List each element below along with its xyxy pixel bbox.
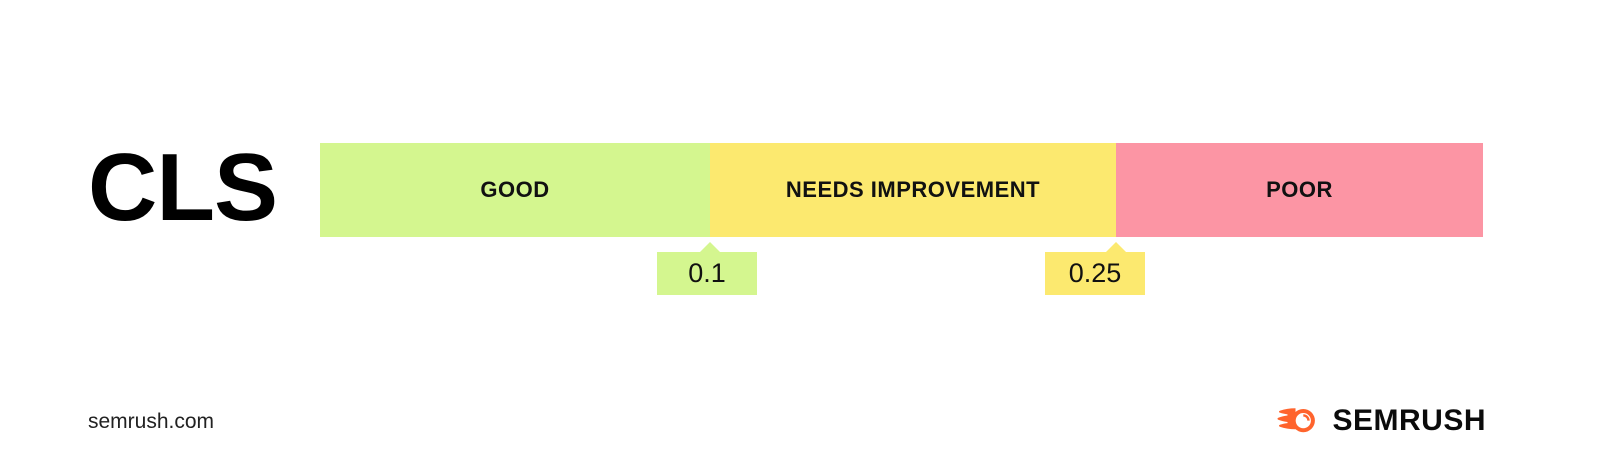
- segment-good-label: GOOD: [480, 177, 549, 203]
- site-url: semrush.com: [88, 410, 214, 434]
- threshold-value-0.25: 0.25: [1045, 252, 1145, 295]
- segment-needs-improvement: NEEDS IMPROVEMENT: [710, 143, 1116, 237]
- threshold-callout-0.1: 0.1: [657, 252, 757, 295]
- threshold-callout-0.25: 0.25: [1045, 252, 1145, 295]
- metric-name: CLS: [88, 138, 308, 238]
- segment-poor-label: POOR: [1266, 177, 1333, 203]
- semrush-comet-icon: [1274, 404, 1318, 438]
- semrush-wordmark: SEMRUSH: [1332, 404, 1486, 438]
- infographic-canvas: CLS GOOD NEEDS IMPROVEMENT POOR 0.1 0.25…: [0, 0, 1600, 475]
- threshold-bar: GOOD NEEDS IMPROVEMENT POOR: [320, 143, 1483, 237]
- semrush-logo: SEMRUSH: [1274, 402, 1486, 440]
- segment-good: GOOD: [320, 143, 710, 237]
- threshold-value-0.1: 0.1: [657, 252, 757, 295]
- segment-poor: POOR: [1116, 143, 1483, 237]
- segment-needs-improvement-label: NEEDS IMPROVEMENT: [786, 177, 1040, 203]
